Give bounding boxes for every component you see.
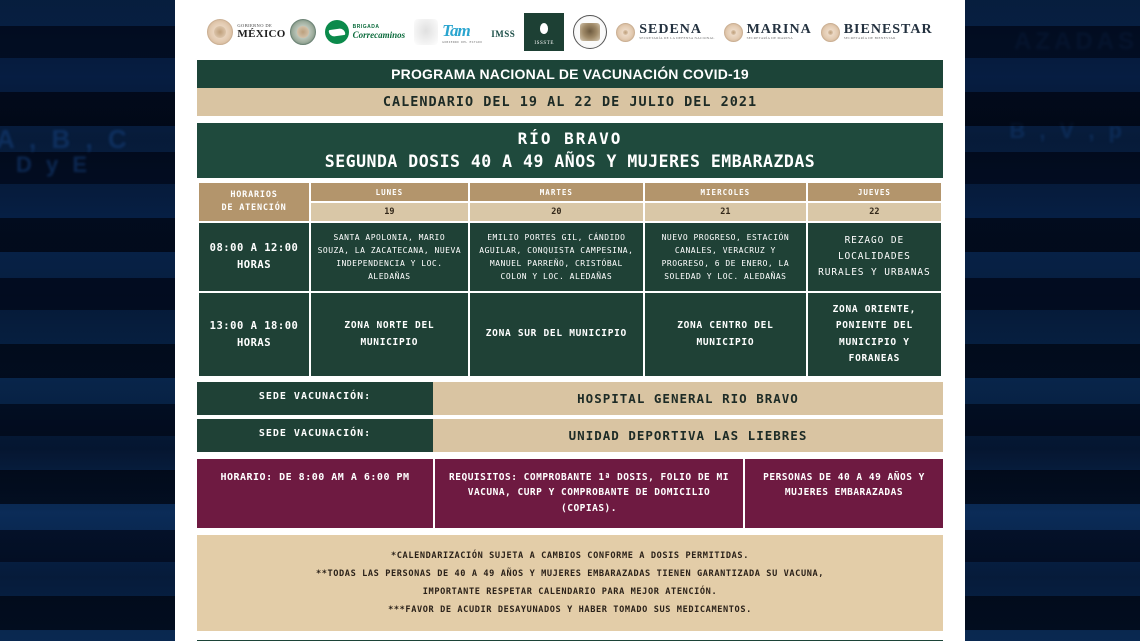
calendar-range-banner: CALENDARIO DEL 19 AL 22 DE JULIO DEL 202… <box>197 88 943 116</box>
eagle-icon <box>580 23 600 41</box>
city-title: RÍO BRAVO <box>197 123 943 150</box>
schedule-table-wrapper: HORARIOS DE ATENCIÓN LUNES MARTES MIERCO… <box>197 181 943 378</box>
info-horario: HORARIO: DE 8:00 AM A 6:00 PM <box>197 459 433 528</box>
table-row: 13:00 A 18:00 HORAS ZONA NORTE DEL MUNIC… <box>199 293 941 376</box>
info-personas: PERSONAS DE 40 A 49 AÑOS Y MUJERES EMBAR… <box>745 459 943 528</box>
day-number-lunes: 19 <box>311 203 468 221</box>
cell-afternoon-jueves: ZONA ORIENTE, PONIENTE DEL MUNICIPIO Y F… <box>808 293 941 376</box>
ghost-text-right-1: AZADAS <box>1014 28 1138 56</box>
tam-subtitle: GOBIERNO DEL ESTADO <box>442 40 482 44</box>
sede-label-1: SEDE VACUNACIÓN: <box>197 382 433 415</box>
row-time-morning: 08:00 A 12:00 HORAS <box>199 223 309 292</box>
sedena-logo: SEDENA SECRETARÍA DE LA DEFENSA NACIONAL <box>616 23 714 42</box>
cell-morning-lunes: SANTA APOLONIA, MARIO SOUZA, LA ZACATECA… <box>311 223 468 292</box>
row-time-afternoon-line1: 13:00 A 18:00 <box>210 320 299 332</box>
imss-logo: IMSS <box>491 24 515 40</box>
sedena-subtitle: SECRETARÍA DE LA DEFENSA NACIONAL <box>639 37 714 40</box>
escudo-nacional-logo <box>573 15 607 49</box>
program-title-banner: PROGRAMA NACIONAL DE VACUNACIÓN COVID-19 <box>197 60 943 88</box>
note-4: ***FAVOR DE ACUDIR DESAYUNADOS Y HABER T… <box>207 601 933 619</box>
row-time-afternoon: 13:00 A 18:00 HORAS <box>199 293 309 376</box>
notes-block: *CALENDARIZACIÓN SUJETA A CAMBIOS CONFOR… <box>197 535 943 631</box>
info-requisitos: REQUISITOS: COMPROBANTE 1ª DOSIS, FOLIO … <box>435 459 743 528</box>
cell-afternoon-martes: ZONA SUR DEL MUNICIPIO <box>470 293 643 376</box>
header-horarios-atencion: HORARIOS DE ATENCIÓN <box>199 183 309 221</box>
ghost-text-left-2: D y E <box>16 152 91 178</box>
marina-logo: MARINA SECRETARÍA DE MARINA <box>724 23 812 42</box>
day-header-jueves: JUEVES <box>808 183 941 201</box>
escudo-nacional-seal-icon <box>207 19 233 45</box>
dose-subtitle: SEGUNDA DOSIS 40 A 49 AÑOS Y MUJERES EMB… <box>197 150 943 178</box>
sede-value-2: UNIDAD DEPORTIVA LAS LIEBRES <box>433 419 943 452</box>
tamaulipas-seal-icon <box>290 19 316 45</box>
header-horarios-line2: DE ATENCIÓN <box>221 203 286 213</box>
sede-row-2: SEDE VACUNACIÓN: UNIDAD DEPORTIVA LAS LI… <box>197 419 943 452</box>
cell-afternoon-miercoles: ZONA CENTRO DEL MUNICIPIO <box>645 293 806 376</box>
bienestar-logo: BIENESTAR SECRETARÍA DE BIENESTAR <box>821 23 933 42</box>
row-time-afternoon-line2: HORAS <box>237 337 271 349</box>
table-header-day-names: HORARIOS DE ATENCIÓN LUNES MARTES MIERCO… <box>199 183 941 201</box>
sede-row-1: SEDE VACUNACIÓN: HOSPITAL GENERAL RIO BR… <box>197 382 943 415</box>
day-header-miercoles: MIERCOLES <box>645 183 806 201</box>
imss-wordmark: IMSS <box>491 29 515 39</box>
marina-seal-icon <box>724 23 743 42</box>
flyer-sheet: GOBIERNO DE MÉXICO BRIGADA Correcaminos … <box>175 0 965 641</box>
table-row: 08:00 A 12:00 HORAS SANTA APOLONIA, MARI… <box>199 223 941 292</box>
cell-morning-miercoles: NUEVO PROGRESO, ESTACIÓN CANALES, VERACR… <box>645 223 806 292</box>
roadrunner-icon <box>325 20 349 44</box>
brigada-line2: Correcaminos <box>353 30 406 40</box>
gobierno-de-mexico-line2: MÉXICO <box>237 29 285 40</box>
logo-strip: GOBIERNO DE MÉXICO BRIGADA Correcaminos … <box>175 8 965 56</box>
row-time-morning-line2: HORAS <box>237 259 271 271</box>
gobierno-de-mexico-logo: GOBIERNO DE MÉXICO <box>207 19 315 45</box>
brigada-correcaminos-logo: BRIGADA Correcaminos <box>325 20 406 44</box>
sede-label-2: SEDE VACUNACIÓN: <box>197 419 433 452</box>
row-time-morning-line1: 08:00 A 12:00 <box>210 242 299 254</box>
cell-morning-jueves: REZAGO DE LOCALIDADES RURALES Y URBANAS <box>808 223 941 292</box>
sede-value-1: HOSPITAL GENERAL RIO BRAVO <box>433 382 943 415</box>
day-number-jueves: 22 <box>808 203 941 221</box>
schedule-table: HORARIOS DE ATENCIÓN LUNES MARTES MIERCO… <box>197 181 943 378</box>
header-horarios-line1: HORARIOS <box>230 190 277 200</box>
tamaulipas-crest-icon <box>414 19 438 45</box>
table-header-day-numbers: 19 20 21 22 <box>199 203 941 221</box>
tamaulipas-logo: Tam GOBIERNO DEL ESTADO <box>414 19 482 45</box>
note-3: IMPORTANTE RESPETAR CALENDARIO PARA MEJO… <box>207 583 933 601</box>
marina-subtitle: SECRETARÍA DE MARINA <box>747 37 812 40</box>
sedena-seal-icon <box>616 23 635 42</box>
note-1: *CALENDARIZACIÓN SUJETA A CAMBIOS CONFOR… <box>207 547 933 565</box>
issste-logo: ISSSTE <box>524 13 564 51</box>
day-number-miercoles: 21 <box>645 203 806 221</box>
ghost-text-left-1: A , B , C <box>0 124 131 155</box>
tam-wordmark: Tam <box>442 21 470 40</box>
info-row: HORARIO: DE 8:00 AM A 6:00 PM REQUISITOS… <box>197 459 943 528</box>
day-number-martes: 20 <box>470 203 643 221</box>
day-header-lunes: LUNES <box>311 183 468 201</box>
issste-emblem-icon <box>534 19 554 39</box>
issste-wordmark: ISSSTE <box>534 41 554 46</box>
cell-morning-martes: EMILIO PORTES GIL, CÁNDIDO AGUILAR, CONQ… <box>470 223 643 292</box>
ghost-text-right-2: B , V , p <box>1009 118 1126 144</box>
bienestar-subtitle: SECRETARÍA DE BIENESTAR <box>844 37 933 40</box>
cell-afternoon-lunes: ZONA NORTE DEL MUNICIPIO <box>311 293 468 376</box>
day-header-martes: MARTES <box>470 183 643 201</box>
bienestar-seal-icon <box>821 23 840 42</box>
note-2: **TODAS LAS PERSONAS DE 40 A 49 AÑOS Y M… <box>207 565 933 583</box>
